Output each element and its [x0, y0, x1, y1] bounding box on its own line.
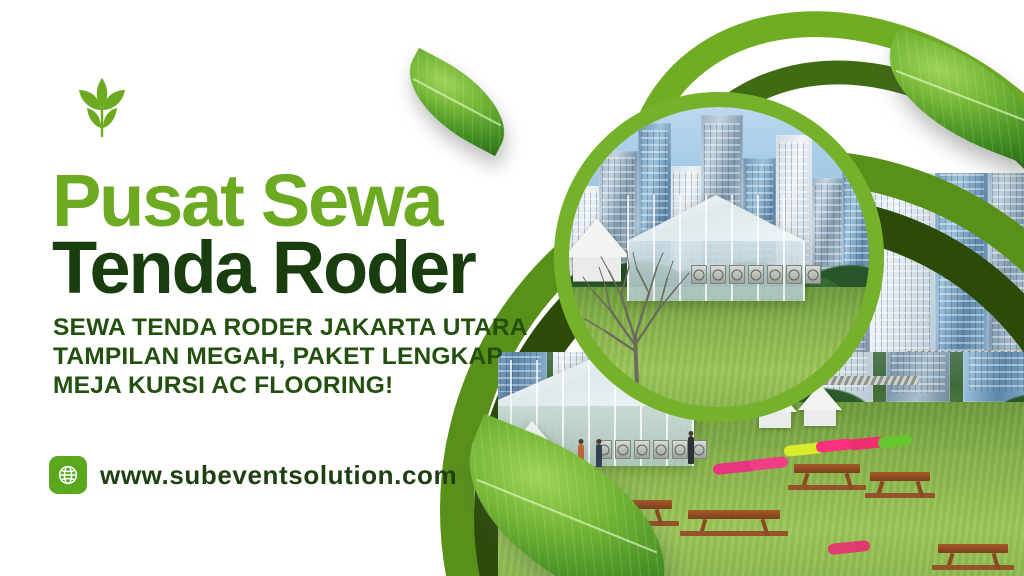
plant-sprout-icon — [73, 70, 131, 140]
website-row[interactable]: www.subeventsolution.com — [49, 456, 457, 494]
text-panel: Pusat Sewa Tenda Roder SEWA TENDA RODER … — [0, 0, 560, 576]
picnic-table — [794, 464, 860, 489]
picnic-table — [870, 472, 930, 497]
subheadline: SEWA TENDA RODER JAKARTA UTARA TAMPILAN … — [53, 314, 553, 401]
picnic-table — [688, 510, 780, 535]
globe-icon — [49, 456, 87, 494]
promo-banner: Pusat Sewa Tenda Roder SEWA TENDA RODER … — [0, 0, 1024, 576]
circular-tent-photo — [569, 107, 869, 407]
headline-line-2: Tenda Roder — [52, 235, 572, 302]
bare-tree — [575, 233, 703, 383]
person — [688, 436, 694, 464]
picnic-table — [938, 544, 1008, 569]
ac-unit-row — [691, 265, 821, 284]
website-url[interactable]: www.subeventsolution.com — [100, 460, 457, 491]
person — [596, 444, 602, 467]
page-title: Pusat Sewa Tenda Roder — [52, 168, 572, 301]
headline-line-1: Pusat Sewa — [52, 168, 572, 235]
